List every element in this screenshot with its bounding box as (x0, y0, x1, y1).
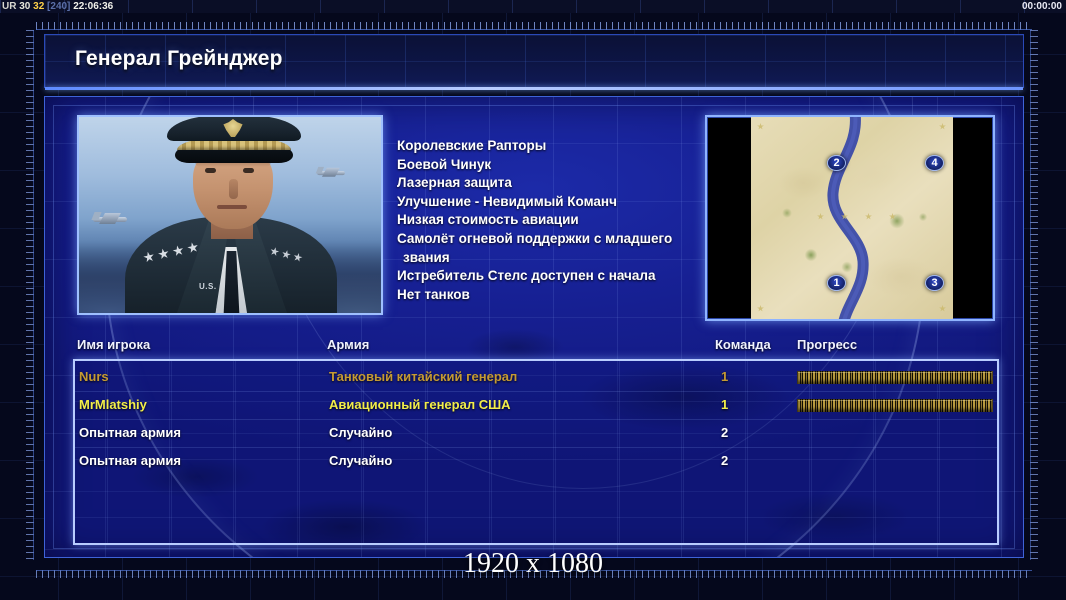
ruler-rail-right (1030, 30, 1038, 560)
ruler-rail-top (36, 22, 1032, 30)
progress-bar (797, 399, 993, 412)
minimap-river (751, 117, 953, 319)
ability-item-continuation: звания (397, 249, 717, 268)
page-title: Генерал Грейнджер (75, 47, 283, 71)
ability-item: Низкая стоимость авиации (397, 211, 717, 230)
table-row[interactable]: Опытная армия Случайно 2 (75, 449, 999, 475)
overlay-value-2: 32 (33, 1, 44, 12)
us-insignia-label: U.S. (199, 282, 217, 291)
player-army: Случайно (329, 453, 392, 468)
officer-figure: U.S. (125, 117, 337, 313)
column-header-progress: Прогресс (797, 337, 857, 352)
table-row[interactable]: Опытная армия Случайно 2 (75, 421, 999, 447)
overlay-clock: 22:06:36 (73, 1, 113, 12)
general-portrait: U.S. (77, 115, 383, 315)
player-army: Авиационный генерал США (329, 397, 511, 412)
player-table-header: Имя игрока Армия Команда Прогресс (77, 337, 995, 357)
progress-bar (797, 455, 993, 468)
match-timer: 00:00:00 (1022, 0, 1062, 13)
general-abilities-list: Королевские Рапторы Боевой Чинук Лазерна… (397, 137, 717, 304)
player-team: 2 (721, 425, 728, 440)
progress-bar (797, 427, 993, 440)
player-army: Случайно (329, 425, 392, 440)
table-row[interactable]: Nurs Танковый китайский генерал 1 (75, 365, 999, 391)
player-army: Танковый китайский генерал (329, 369, 517, 384)
ruler-rail-left (26, 30, 34, 560)
player-team: 1 (721, 397, 728, 412)
resolution-watermark: 1920 x 1080 (0, 548, 1066, 580)
top-status-bar: UR 30 32 [240] 22:06:36 00:00:00 (0, 0, 1066, 13)
overlay-label: UR (2, 1, 16, 12)
player-name: Опытная армия (79, 453, 181, 468)
overlay-value-1: 30 (19, 1, 30, 12)
minimap-preview[interactable]: 2 4 1 3 (705, 115, 995, 321)
ability-item: Истребитель Стелс доступен с начала (397, 267, 717, 286)
player-team: 1 (721, 369, 728, 384)
minimap-start-position: 1 (827, 275, 846, 291)
progress-bar (797, 371, 993, 384)
ability-item: Боевой Чинук (397, 156, 717, 175)
table-row[interactable]: MrMlatshiy Авиационный генерал США 1 (75, 393, 999, 419)
player-team: 2 (721, 453, 728, 468)
player-name: Опытная армия (79, 425, 181, 440)
ability-item: Нет танков (397, 286, 717, 305)
column-header-team: Команда (715, 337, 771, 352)
column-header-army: Армия (327, 337, 369, 352)
player-name: MrMlatshiy (79, 397, 147, 412)
column-header-player-name: Имя игрока (77, 337, 150, 352)
overlay-stats: UR 30 32 [240] 22:06:36 (2, 0, 113, 13)
title-bar: Генерал Грейнджер (44, 34, 1024, 88)
minimap-start-position: 4 (925, 155, 944, 171)
minimap-start-position: 2 (827, 155, 846, 171)
main-panel: U.S. Королевские Рапторы Боевой Чинук Ла… (44, 96, 1024, 558)
overlay-value-3: [240] (47, 1, 70, 12)
player-table: Nurs Танковый китайский генерал 1 MrMlat… (73, 359, 999, 545)
ability-item: Улучшение - Невидимый Команч (397, 193, 717, 212)
minimap-start-position: 3 (925, 275, 944, 291)
ability-item: Лазерная защита (397, 174, 717, 193)
ability-item: Королевские Рапторы (397, 137, 717, 156)
player-name: Nurs (79, 369, 109, 384)
ability-item: Самолёт огневой поддержки с младшего (397, 230, 717, 249)
top-status-grid (0, 0, 1066, 13)
game-screen: UR 30 32 [240] 22:06:36 00:00:00 Генерал… (0, 0, 1066, 600)
